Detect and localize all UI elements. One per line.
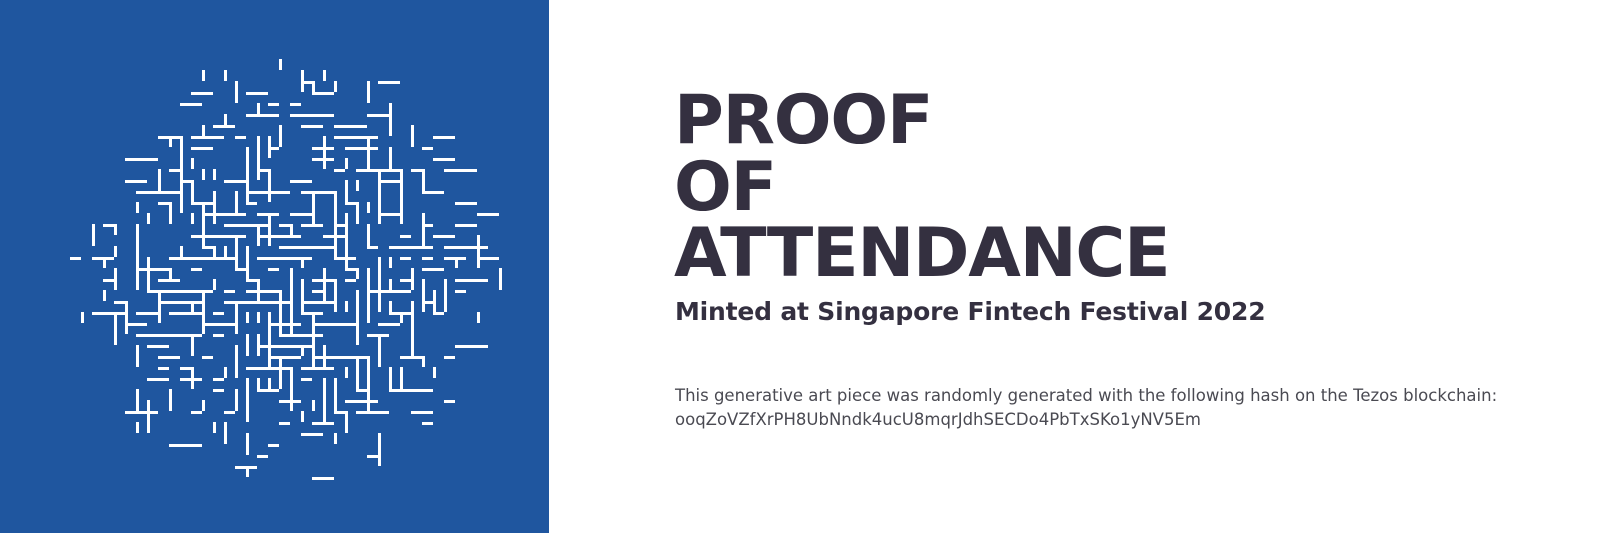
certificate-text-panel: PROOF OF ATTENDANCE Minted at Singapore … [549, 0, 1600, 533]
certificate-description: This generative art piece was randomly g… [675, 384, 1535, 432]
certificate-subtitle: Minted at Singapore Fintech Festival 202… [675, 297, 1265, 326]
generative-art-blob [0, 0, 549, 533]
description-text: This generative art piece was randomly g… [675, 386, 1497, 405]
page-title: PROOF OF ATTENDANCE [674, 88, 1169, 288]
art-background [0, 0, 549, 533]
blockchain-hash: ooqZoVZfXrPH8UbNndk4ucU8mqrJdhSECDo4PbTx… [675, 408, 1535, 432]
proof-of-attendance-certificate: PROOF OF ATTENDANCE Minted at Singapore … [0, 0, 1600, 533]
generative-art-panel [0, 0, 549, 533]
